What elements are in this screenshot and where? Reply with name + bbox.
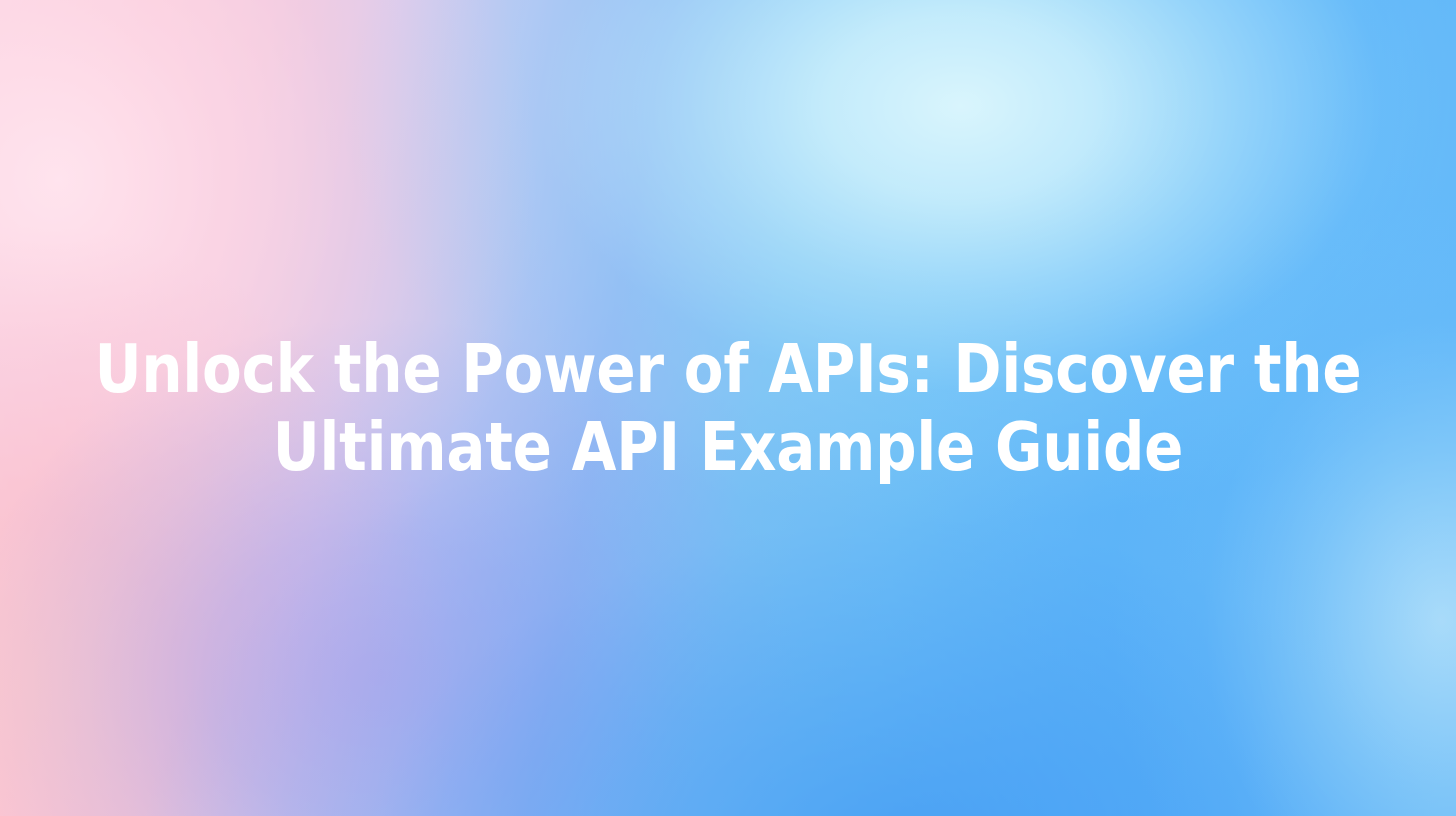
headline-container: Unlock the Power of APIs: Discover the U… <box>0 0 1456 816</box>
banner-headline: Unlock the Power of APIs: Discover the U… <box>90 330 1367 486</box>
hero-banner: Unlock the Power of APIs: Discover the U… <box>0 0 1456 816</box>
